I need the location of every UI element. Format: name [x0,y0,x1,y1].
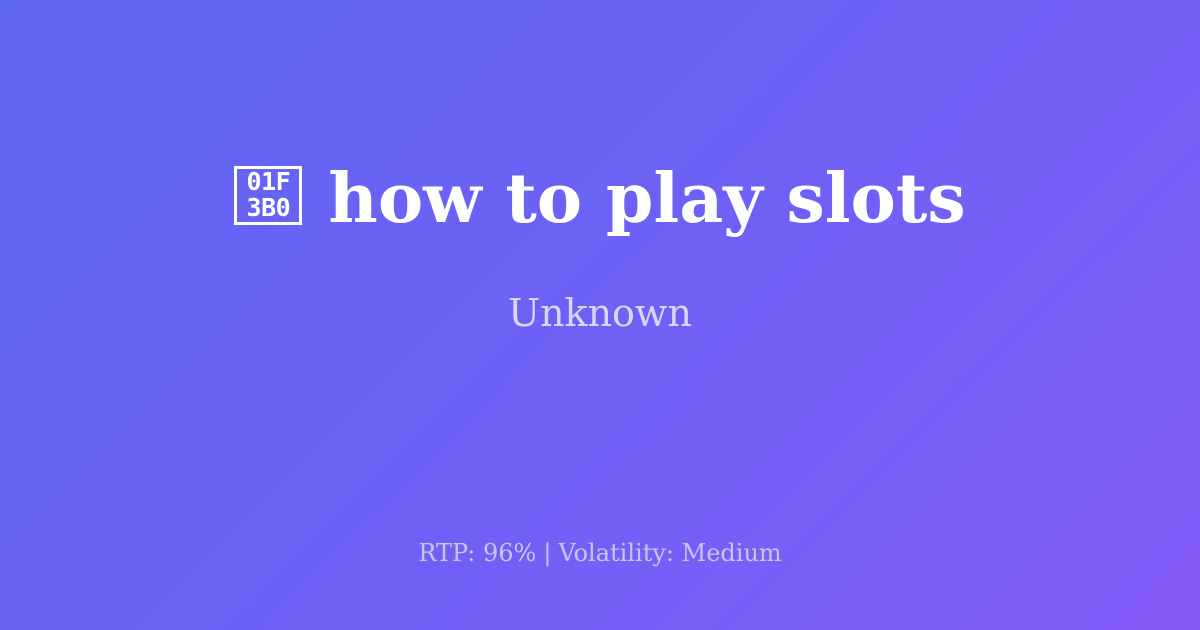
hero-section: 01F 3B0 how to play slots Unknown [0,0,1200,500]
meta-separator: | [536,539,558,567]
slot-machine-icon: 01F 3B0 [234,166,302,225]
provider-subtitle: Unknown [508,291,692,337]
tofu-codepoint-row-bottom: 3B0 [247,195,291,221]
page-title: how to play slots [328,164,965,235]
tofu-codepoint-row-top: 01F [247,169,291,195]
footer-meta-bar: RTP: 96%|Volatility: Medium [0,539,1200,568]
title-row: 01F 3B0 how to play slots [234,164,965,235]
og-card: 01F 3B0 how to play slots Unknown RTP: 9… [0,0,1200,630]
volatility-label: Volatility: [558,539,674,567]
volatility-value: Medium [682,539,782,567]
rtp-value: 96% [483,539,536,567]
rtp-label: RTP: [418,539,475,567]
game-stats-line: RTP: 96%|Volatility: Medium [418,539,781,568]
